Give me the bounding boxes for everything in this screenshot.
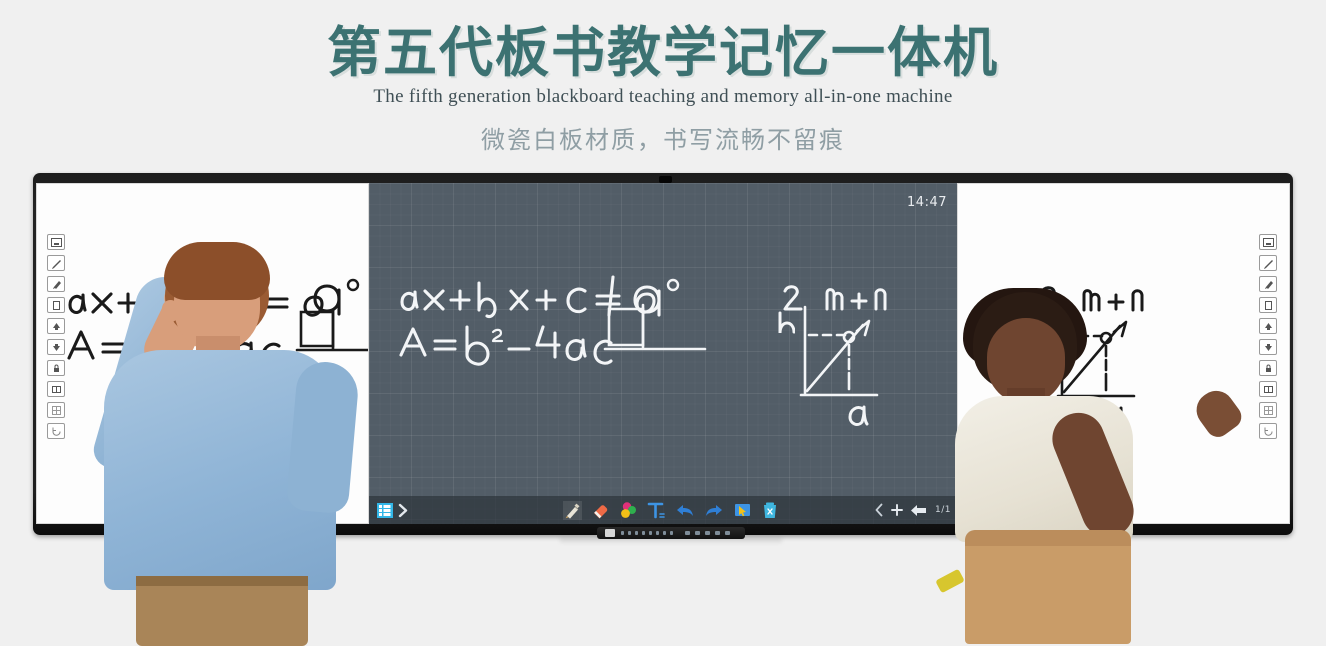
subtitle-english: The fifth generation blackboard teaching…: [0, 86, 1326, 108]
scroll-down-button[interactable]: [47, 339, 65, 355]
scroll-up-button[interactable]: [1259, 318, 1277, 334]
page-title: 第五代板书教学记忆一体机: [0, 22, 1326, 84]
camera-sensor-icon: [659, 176, 672, 183]
blackboard-panel[interactable]: 14:47: [369, 183, 957, 524]
page-header: 第五代板书教学记忆一体机 The fifth generation blackb…: [0, 0, 1326, 172]
delete-button[interactable]: [761, 500, 779, 520]
board-toolbar[interactable]: 1/1: [369, 496, 957, 524]
text-tool[interactable]: [647, 500, 666, 520]
chevron-left-icon[interactable]: [874, 500, 884, 520]
female-marker-pen: [935, 569, 965, 594]
plus-icon[interactable]: [891, 500, 903, 520]
page-indicator: 1/1: [935, 505, 951, 515]
lock-button[interactable]: [1259, 360, 1277, 376]
menu-list-icon[interactable]: [377, 500, 393, 520]
marker-button[interactable]: [1259, 276, 1277, 292]
redo-button[interactable]: [704, 500, 724, 520]
toolbar-tools-group[interactable]: [563, 496, 779, 524]
female-waistband: [965, 530, 1131, 546]
blackboard-grid: [369, 183, 957, 524]
scroll-up-button[interactable]: [47, 318, 65, 334]
base-logo: [605, 529, 615, 537]
page-button[interactable]: [1259, 297, 1277, 313]
male-right-shoulder: [286, 360, 361, 515]
side-toolbar-left[interactable]: [47, 234, 67, 439]
select-tool[interactable]: [733, 500, 752, 520]
minimize-button[interactable]: [1259, 234, 1277, 250]
back-arrow-icon[interactable]: [910, 500, 928, 520]
eraser-tool[interactable]: [591, 500, 610, 520]
side-toolbar-right[interactable]: [1259, 234, 1279, 439]
refresh-button[interactable]: [1259, 423, 1277, 439]
toolbar-page-nav-group[interactable]: 1/1: [874, 496, 951, 524]
chevron-right-icon[interactable]: [398, 500, 409, 520]
lock-button[interactable]: [47, 360, 65, 376]
undo-button[interactable]: [675, 500, 695, 520]
toolbar-left-group[interactable]: [377, 496, 409, 524]
clock-label: 14:47: [907, 195, 947, 210]
control-panel-strip: [597, 527, 745, 539]
male-belt: [136, 576, 308, 586]
refresh-button[interactable]: [47, 423, 65, 439]
marker-button[interactable]: [47, 276, 65, 292]
male-hair-top: [164, 242, 270, 300]
grid-button[interactable]: [47, 402, 65, 418]
pen-button[interactable]: [1259, 255, 1277, 271]
pen-tool[interactable]: [563, 500, 582, 520]
male-pants: [136, 576, 308, 646]
color-tool[interactable]: [619, 500, 638, 520]
minimize-button[interactable]: [47, 234, 65, 250]
pen-button[interactable]: [47, 255, 65, 271]
person-male-writing: [104, 238, 354, 643]
split-screen-button[interactable]: [47, 381, 65, 397]
male-ear: [162, 300, 179, 322]
female-pants: [965, 530, 1131, 644]
person-female-writing: [955, 292, 1155, 643]
scroll-down-button[interactable]: [1259, 339, 1277, 355]
subtitle-chinese: 微瓷白板材质，书写流畅不留痕: [0, 120, 1326, 155]
split-screen-button[interactable]: [1259, 381, 1277, 397]
grid-button[interactable]: [1259, 402, 1277, 418]
page-button[interactable]: [47, 297, 65, 313]
